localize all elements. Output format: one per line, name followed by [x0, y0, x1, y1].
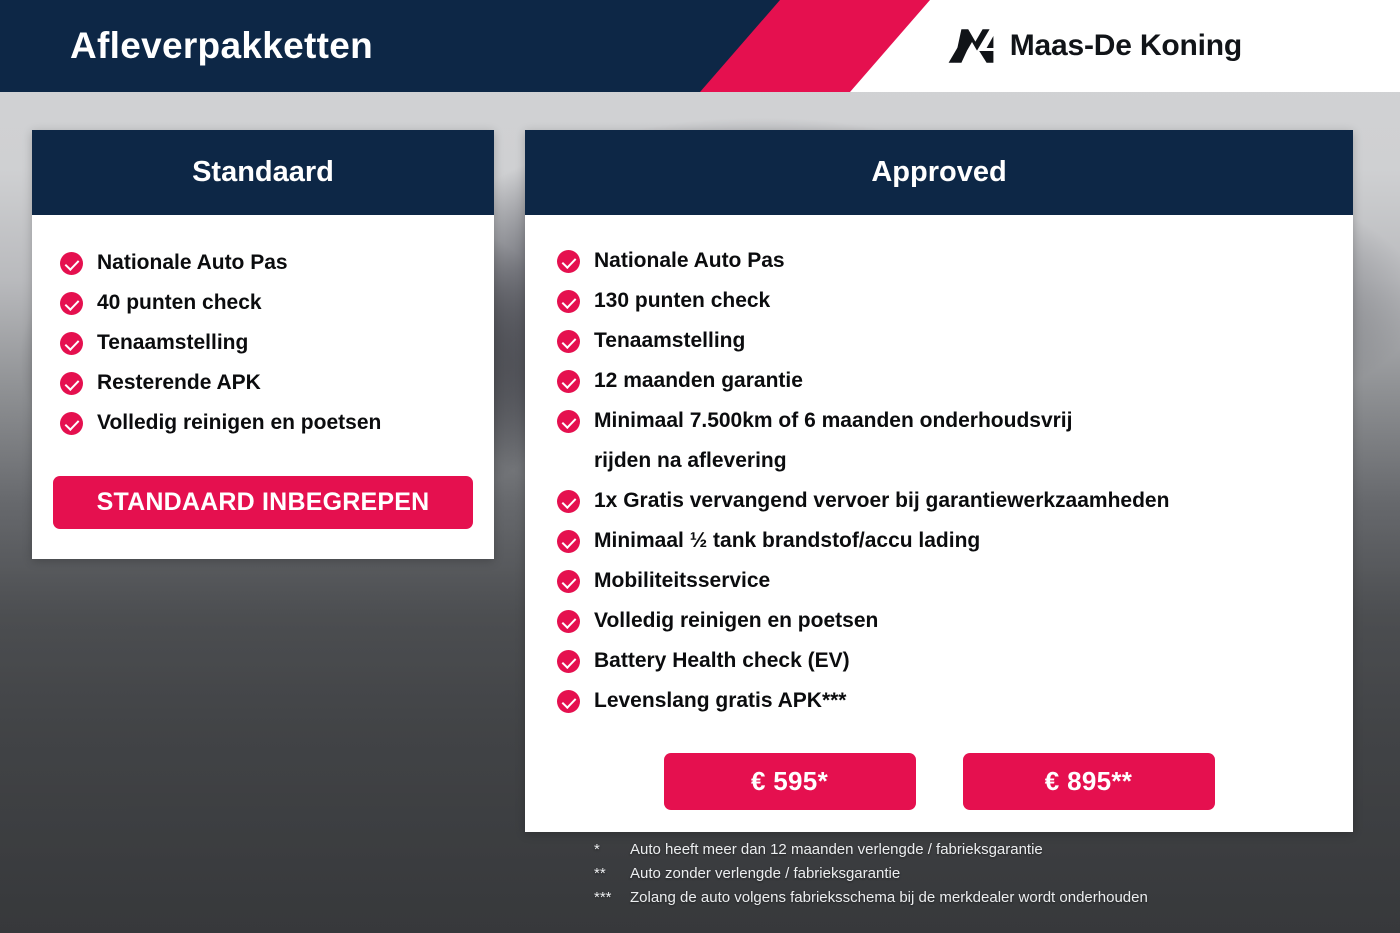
list-item: 130 punten check	[557, 281, 1329, 321]
list-item: Battery Health check (EV)	[557, 641, 1329, 681]
check-circle-icon	[557, 610, 580, 633]
maas-de-koning-m-mark-icon	[948, 26, 994, 66]
list-item: 12 maanden garantie	[557, 361, 1329, 401]
footnote-text: Auto zonder verlengde / fabrieksgarantie	[630, 862, 900, 886]
package-card-approved: Approved Nationale Auto Pas 130 punten c…	[525, 130, 1353, 832]
price-button-row: € 595* € 895**	[525, 753, 1353, 810]
feature-label: Resterende APK	[97, 363, 261, 403]
list-item: 40 punten check	[60, 283, 494, 323]
footnote-marker: *	[594, 838, 630, 862]
footnote-single-asterisk: * Auto heeft meer dan 12 maanden verleng…	[594, 838, 1354, 862]
footnote-marker: ***	[594, 886, 630, 910]
footnote-marker: **	[594, 862, 630, 886]
check-circle-icon	[60, 372, 83, 395]
list-item: Tenaamstelling	[557, 321, 1329, 361]
footnote-text: Auto heeft meer dan 12 maanden verlengde…	[630, 838, 1043, 862]
list-item: Minimaal 7.500km of 6 maanden onderhouds…	[557, 401, 1329, 481]
list-item: Volledig reinigen en poetsen	[60, 403, 494, 443]
feature-label-line-1: Minimaal 7.500km of 6 maanden onderhouds…	[594, 401, 1072, 441]
check-circle-icon	[60, 332, 83, 355]
feature-label: 12 maanden garantie	[594, 361, 803, 401]
check-circle-icon	[557, 490, 580, 513]
check-circle-icon	[60, 292, 83, 315]
check-circle-icon	[557, 690, 580, 713]
package-body-standaard: Nationale Auto Pas 40 punten check Tenaa…	[32, 215, 494, 559]
footnote-text: Zolang de auto volgens fabrieksschema bi…	[630, 886, 1148, 910]
list-item: Minimaal ½ tank brandstof/accu lading	[557, 521, 1329, 561]
feature-label: Volledig reinigen en poetsen	[97, 403, 381, 443]
check-circle-icon	[557, 570, 580, 593]
feature-label: Minimaal ½ tank brandstof/accu lading	[594, 521, 980, 561]
feature-label: Tenaamstelling	[594, 321, 745, 361]
brand-name: Maas-De Koning	[1010, 29, 1242, 63]
list-item: Resterende APK	[60, 363, 494, 403]
afleverpakketten-page: Afleverpakketten Maas-De Koning Standaar…	[0, 0, 1400, 933]
footnote-triple-asterisk: *** Zolang de auto volgens fabrieksschem…	[594, 886, 1354, 910]
feature-label: Mobiliteitsservice	[594, 561, 770, 601]
check-circle-icon	[557, 370, 580, 393]
package-title-standaard: Standaard	[32, 130, 494, 215]
check-circle-icon	[557, 330, 580, 353]
price-button-895[interactable]: € 895**	[963, 753, 1215, 810]
package-card-standaard: Standaard Nationale Auto Pas 40 punten c…	[32, 130, 494, 559]
feature-label: Volledig reinigen en poetsen	[594, 601, 878, 641]
footnotes: * Auto heeft meer dan 12 maanden verleng…	[594, 838, 1354, 910]
brand-logo: Maas-De Koning	[948, 0, 1242, 92]
feature-label: Battery Health check (EV)	[594, 641, 850, 681]
package-title-approved: Approved	[525, 130, 1353, 215]
feature-label: Nationale Auto Pas	[97, 243, 288, 283]
check-circle-icon	[557, 530, 580, 553]
list-item: Volledig reinigen en poetsen	[557, 601, 1329, 641]
feature-label: Tenaamstelling	[97, 323, 248, 363]
feature-label: 40 punten check	[97, 283, 262, 323]
page-header: Afleverpakketten Maas-De Koning	[0, 0, 1400, 92]
standaard-inbegrepen-button[interactable]: STANDAARD INBEGREPEN	[53, 476, 473, 529]
feature-list-standaard: Nationale Auto Pas 40 punten check Tenaa…	[32, 243, 494, 443]
feature-label: 1x Gratis vervangend vervoer bij garanti…	[594, 481, 1169, 521]
feature-list-approved: Nationale Auto Pas 130 punten check Tena…	[525, 241, 1353, 721]
list-item: Mobiliteitsservice	[557, 561, 1329, 601]
check-circle-icon	[557, 650, 580, 673]
list-item: Nationale Auto Pas	[60, 243, 494, 283]
price-button-595[interactable]: € 595*	[664, 753, 916, 810]
package-body-approved: Nationale Auto Pas 130 punten check Tena…	[525, 215, 1353, 832]
feature-label: Levenslang gratis APK***	[594, 681, 846, 721]
check-circle-icon	[60, 252, 83, 275]
page-title: Afleverpakketten	[70, 0, 373, 92]
list-item: Levenslang gratis APK***	[557, 681, 1329, 721]
check-circle-icon	[557, 410, 580, 433]
feature-label-line-2: rijden na aflevering	[594, 441, 1072, 481]
list-item: 1x Gratis vervangend vervoer bij garanti…	[557, 481, 1329, 521]
list-item: Tenaamstelling	[60, 323, 494, 363]
feature-label: Nationale Auto Pas	[594, 241, 785, 281]
feature-label-multiline: Minimaal 7.500km of 6 maanden onderhouds…	[594, 401, 1072, 481]
check-circle-icon	[60, 412, 83, 435]
list-item: Nationale Auto Pas	[557, 241, 1329, 281]
footnote-double-asterisk: ** Auto zonder verlengde / fabrieksgaran…	[594, 862, 1354, 886]
check-circle-icon	[557, 290, 580, 313]
check-circle-icon	[557, 250, 580, 273]
feature-label: 130 punten check	[594, 281, 770, 321]
